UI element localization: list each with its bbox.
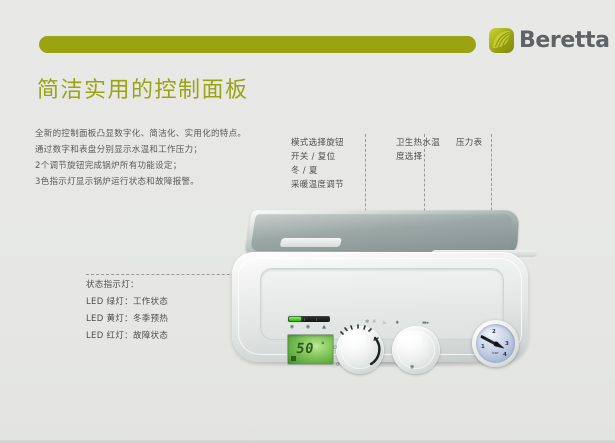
beretta-leaf-icon — [489, 28, 514, 53]
summer-icon: ☼ — [372, 319, 376, 325]
gauge-tick-3: 3 — [505, 341, 509, 347]
annotation-led-line-1: 状态指示灯： — [86, 277, 168, 294]
lcd-degree-unit: ° — [321, 341, 325, 349]
mode-knob-scale — [328, 318, 392, 382]
annotation-mode-line-4: 采暖温度调节 — [291, 178, 344, 192]
max-icon: ▬▸ — [422, 320, 429, 326]
page-title: 简洁实用的控制面板 — [37, 76, 249, 106]
panel-lid — [244, 210, 519, 256]
gauge-tick-1: 1 — [481, 344, 485, 350]
reset-icon: ⟳ — [336, 362, 340, 368]
annotation-dhw-line-2: 度选择 — [396, 150, 440, 164]
annotation-mode-knob: 模式选择旋钮 开关 / 复位 冬 / 夏 采暖温度调节 — [291, 136, 344, 192]
led-divider-2 — [316, 318, 317, 321]
status-icon-row: ◉ ◉ ▲ — [288, 324, 330, 332]
annotation-status-leds: 状态指示灯： LED 绿灯：工作状态 LED 黄灯：冬季预热 LED 红灯：故障… — [86, 277, 168, 345]
panel-lid-highlight — [279, 238, 342, 247]
annotation-dhw-line-1: 卫生热水温 — [396, 136, 440, 150]
led-divider-1 — [304, 318, 305, 321]
annotation-mode-line-3: 冬 / 夏 — [291, 164, 344, 178]
flame-icon: ◉ — [289, 324, 295, 330]
pressure-gauge-face: 1 2 3 4 bar — [476, 324, 515, 363]
lcd-segment-block — [291, 356, 296, 361]
dhw-knob-ring — [397, 331, 435, 369]
heating-temp-icon: ♨ — [382, 320, 386, 326]
annotation-mode-line-1: 模式选择旋钮 — [291, 136, 344, 150]
droplet-icon: ◉ — [305, 324, 311, 330]
copy-line-4: 3色指示灯显示锅炉运行状态和故障报警。 — [35, 176, 285, 189]
min-icon: ◉ — [410, 364, 414, 370]
led-green-indicator — [289, 317, 301, 321]
annotation-led-line-2: LED 绿灯：工作状态 — [86, 294, 168, 311]
dhw-temperature-knob[interactable] — [392, 326, 440, 374]
slide-canvas: Beretta 简洁实用的控制面板 全新的控制面板凸显数字化、简洁化、实用化的特… — [0, 0, 615, 443]
body-copy: 全新的控制面板凸显数字化、简洁化、实用化的特点。 通过数字和表盘分别显示水温和工… — [35, 128, 285, 192]
alert-icon: ▲ — [321, 324, 327, 330]
annotation-dhw-knob: 卫生热水温 度选择 — [396, 136, 440, 164]
gauge-unit-label: bar — [492, 351, 499, 355]
annotation-led-line-3: LED 黄灯：冬季预热 — [86, 311, 168, 328]
annotation-led-line-4: LED 红灯：故障状态 — [86, 328, 168, 345]
winter-icon: ❄ — [365, 319, 369, 325]
tap-icon: ♦ — [395, 320, 399, 326]
pressure-gauge: 1 2 3 4 bar — [472, 320, 519, 367]
gauge-tick-2: 2 — [492, 329, 496, 335]
copy-line-2: 通过数字和表盘分别显示水温和工作压力； — [35, 144, 285, 157]
annotation-pressure-gauge: 压力表 — [456, 136, 482, 150]
lcd-display: 50 ° — [287, 334, 334, 365]
panel-body: ◉ ◉ ▲ 50 ° — [232, 252, 528, 362]
status-led-bar — [288, 316, 330, 322]
annotation-gauge-line-1: 压力表 — [456, 136, 482, 150]
annotation-mode-line-2: 开关 / 复位 — [291, 150, 344, 164]
gauge-needle-hub — [493, 341, 498, 346]
copy-line-3: 2个调节旋钮完成锅炉所有功能设定； — [35, 160, 285, 173]
boiler-control-panel-image: ◉ ◉ ▲ 50 ° — [222, 208, 540, 373]
brand-logo: Beretta — [489, 28, 610, 53]
copy-line-1: 全新的控制面板凸显数字化、简洁化、实用化的特点。 — [35, 128, 285, 141]
lcd-temperature-value: 50 — [295, 342, 315, 356]
power-icon: ⏻ — [333, 345, 337, 351]
gauge-tick-4: 4 — [503, 352, 507, 358]
brand-name: Beretta — [519, 28, 610, 53]
header-accent-bar — [39, 36, 476, 53]
